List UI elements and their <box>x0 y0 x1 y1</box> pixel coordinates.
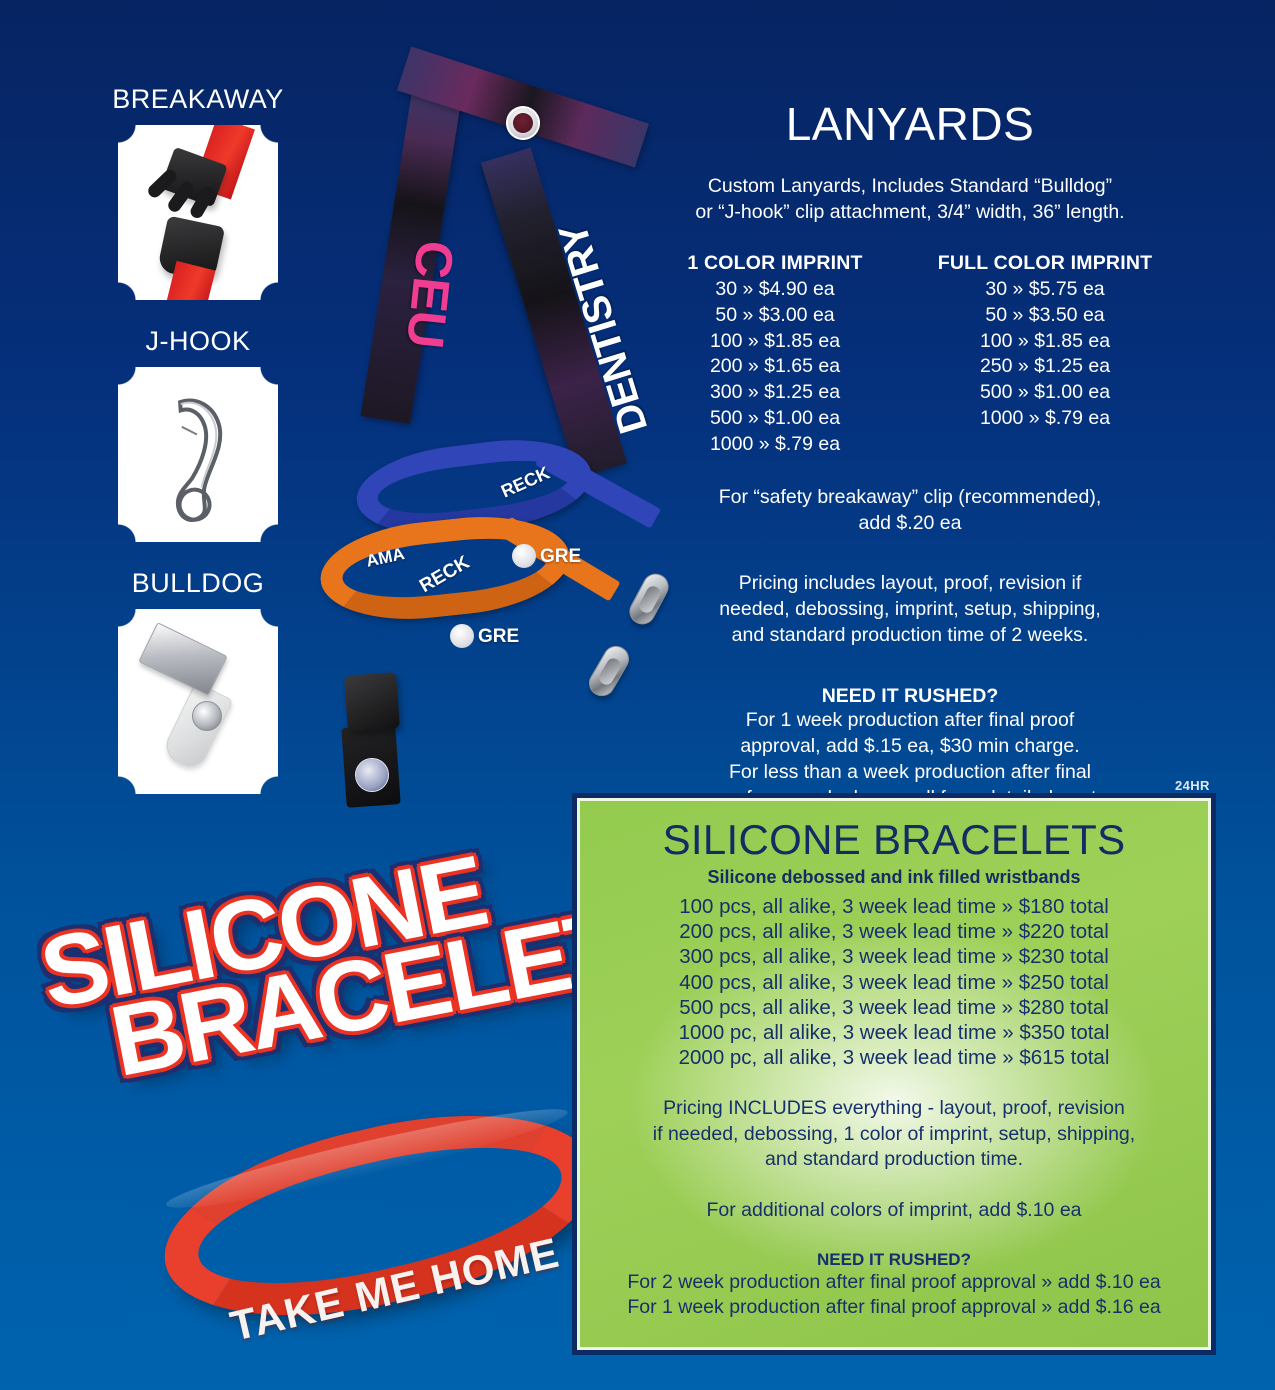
rush-line1: For 1 week production after final proof <box>640 708 1180 734</box>
lanyard-buckle <box>344 672 400 731</box>
silicone-rush-line2: For 1 week production after final proof … <box>596 1295 1192 1320</box>
red-wristband-photo: TAKE ME HOME <box>160 1108 630 1353</box>
price-row: 500 » $1.00 ea <box>640 406 910 432</box>
price-row: 100 » $1.85 ea <box>640 329 910 355</box>
includes-line1: Pricing includes layout, proof, revision… <box>640 571 1180 597</box>
breakaway-clip-photo <box>118 125 278 300</box>
silicone-rush-line1: For 2 week production after final proof … <box>596 1270 1192 1295</box>
breakaway-note-line1: For “safety breakaway” clip (recommended… <box>640 485 1180 511</box>
silicone-price-list: 100 pcs, all alike, 3 week lead time » $… <box>596 894 1192 1070</box>
includes-line3: and standard production time of 2 weeks. <box>640 623 1180 649</box>
silicone-price-row: 200 pcs, all alike, 3 week lead time » $… <box>596 919 1192 944</box>
lanyards-subtitle-line1: Custom Lanyards, Includes Standard “Bull… <box>640 174 1180 200</box>
lanyards-subtitle-line2: or “J-hook” clip attachment, 3/4” width,… <box>640 200 1180 226</box>
silicone-title: SILICONE BRACELETS <box>596 819 1192 861</box>
price-heading-1-color: 1 COLOR IMPRINT <box>640 252 910 275</box>
price-row: 50 » $3.50 ea <box>910 303 1180 329</box>
price-row: 250 » $1.25 ea <box>910 354 1180 380</box>
silicone-price-row: 2000 pc, all alike, 3 week lead time » $… <box>596 1045 1192 1070</box>
price-row: 1000 » $.79 ea <box>910 406 1180 432</box>
silicone-bracelets-panel: SILICONE BRACELETS Silicone debossed and… <box>572 793 1216 1355</box>
price-row: 100 » $1.85 ea <box>910 329 1180 355</box>
lanyard-blue-badge <box>512 544 536 568</box>
rush-line2: approval, add $.15 ea, $30 min charge. <box>640 734 1180 760</box>
price-row: 1000 » $.79 ea <box>640 432 910 458</box>
clip-item-bulldog: BULLDOG <box>78 570 318 794</box>
price-column-full-color: FULL COLOR IMPRINT 30 » $5.75 ea 50 » $3… <box>910 252 1180 457</box>
silicone-extra-colors-note: For additional colors of imprint, add $.… <box>596 1198 1192 1223</box>
silicone-price-row: 400 pcs, all alike, 3 week lead time » $… <box>596 970 1192 995</box>
bulldog-snap-button <box>192 701 222 731</box>
silicone-includes-line2: if needed, debossing, 1 color of imprint… <box>596 1122 1192 1147</box>
price-heading-full-color: FULL COLOR IMPRINT <box>910 252 1180 275</box>
price-column-1-color: 1 COLOR IMPRINT 30 » $4.90 ea 50 » $3.00… <box>640 252 910 457</box>
breakaway-note-line2: add $.20 ea <box>640 511 1180 537</box>
lanyards-info-block: LANYARDS Custom Lanyards, Includes Stand… <box>640 100 1180 812</box>
silicone-subtitle: Silicone debossed and ink filled wristba… <box>596 867 1192 888</box>
clip-label-jhook: J-HOOK <box>78 328 318 355</box>
lanyards-price-table: 1 COLOR IMPRINT 30 » $4.90 ea 50 » $3.00… <box>640 252 1180 457</box>
lanyards-includes-note: Pricing includes layout, proof, revision… <box>640 571 1180 649</box>
silicone-price-row: 100 pcs, all alike, 3 week lead time » $… <box>596 894 1192 919</box>
clip-item-jhook: J-HOOK <box>78 328 318 542</box>
rush-line3: For less than a week production after fi… <box>640 760 1180 786</box>
lanyards-title: LANYARDS <box>640 100 1180 148</box>
clip-label-bulldog: BULLDOG <box>78 570 318 597</box>
price-row: 30 » $4.90 ea <box>640 277 910 303</box>
bulldog-metal-clip <box>138 622 227 696</box>
silicone-price-row: 500 pcs, all alike, 3 week lead time » $… <box>596 995 1192 1020</box>
silicone-price-row: 1000 pc, all alike, 3 week lead time » $… <box>596 1020 1192 1045</box>
breakaway-upcharge-note: For “safety breakaway” clip (recommended… <box>640 485 1180 537</box>
lanyard-imprint-ceu: CEU <box>394 238 465 350</box>
lanyards-subtitle: Custom Lanyards, Includes Standard “Bull… <box>640 174 1180 226</box>
silicone-includes-line3: and standard production time. <box>596 1147 1192 1172</box>
price-row: 30 » $5.75 ea <box>910 277 1180 303</box>
silicone-price-row: 300 pcs, all alike, 3 week lead time » $… <box>596 944 1192 969</box>
price-row: 200 » $1.65 ea <box>640 354 910 380</box>
bulldog-clip-photo <box>118 609 278 794</box>
silicone-includes-note: Pricing INCLUDES everything - layout, pr… <box>596 1096 1192 1172</box>
clip-types-column: BREAKAWAY J-HOOK <box>78 86 318 794</box>
silicone-includes-line1: Pricing INCLUDES everything - layout, pr… <box>596 1096 1192 1121</box>
silicone-rush-heading: NEED IT RUSHED? <box>596 1250 1192 1270</box>
lanyard-imprint-orange-gre: GRE <box>478 626 519 648</box>
lanyards-rush-heading: NEED IT RUSHED? <box>640 685 1180 708</box>
price-row: 300 » $1.25 ea <box>640 380 910 406</box>
swivel-hook-orange <box>584 641 634 701</box>
j-hook-clip-photo <box>118 367 278 542</box>
price-row: 500 » $1.00 ea <box>910 380 1180 406</box>
price-row: 50 » $3.00 ea <box>640 303 910 329</box>
clip-label-breakaway: BREAKAWAY <box>78 86 318 113</box>
j-hook-illustration <box>140 383 258 530</box>
lanyard-orange-badge <box>450 624 474 648</box>
lanyard-imprint-blue-gre: GRE <box>540 546 581 568</box>
clip-item-breakaway: BREAKAWAY <box>78 86 318 300</box>
24hr-badge: 24HR <box>1175 778 1210 793</box>
catalog-page: BREAKAWAY J-HOOK <box>0 0 1275 1390</box>
includes-line2: needed, debossing, imprint, setup, shipp… <box>640 597 1180 623</box>
